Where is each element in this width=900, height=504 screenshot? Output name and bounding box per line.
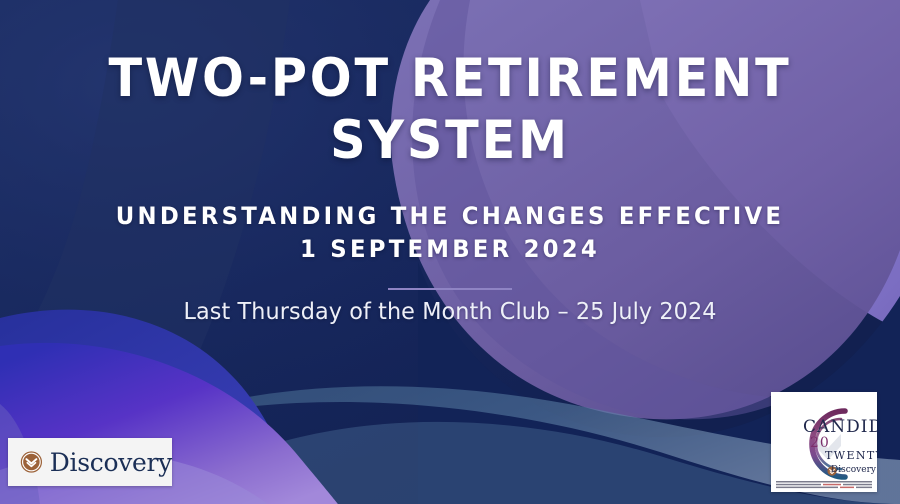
candid-year: 20 — [810, 436, 830, 450]
candid-disclaimer-lines — [776, 481, 872, 488]
discovery-chevron-icon — [20, 447, 43, 477]
candid-twenty-label: TWENTY — [825, 450, 877, 461]
background-decoration — [0, 0, 900, 504]
candid-name: CANDID — [803, 419, 877, 436]
candid-logo: CANDID 20 TWENTY Discovery — [771, 392, 877, 492]
discovery-logo: Discovery — [8, 438, 172, 486]
discovery-wordmark: Discovery — [50, 450, 172, 475]
candid-partner-logo: Discovery — [829, 466, 876, 475]
candid-partner-wordmark: Discovery — [831, 466, 876, 475]
presentation-slide: TWO-POT RETIREMENT SYSTEM UNDERSTANDING … — [0, 0, 900, 504]
